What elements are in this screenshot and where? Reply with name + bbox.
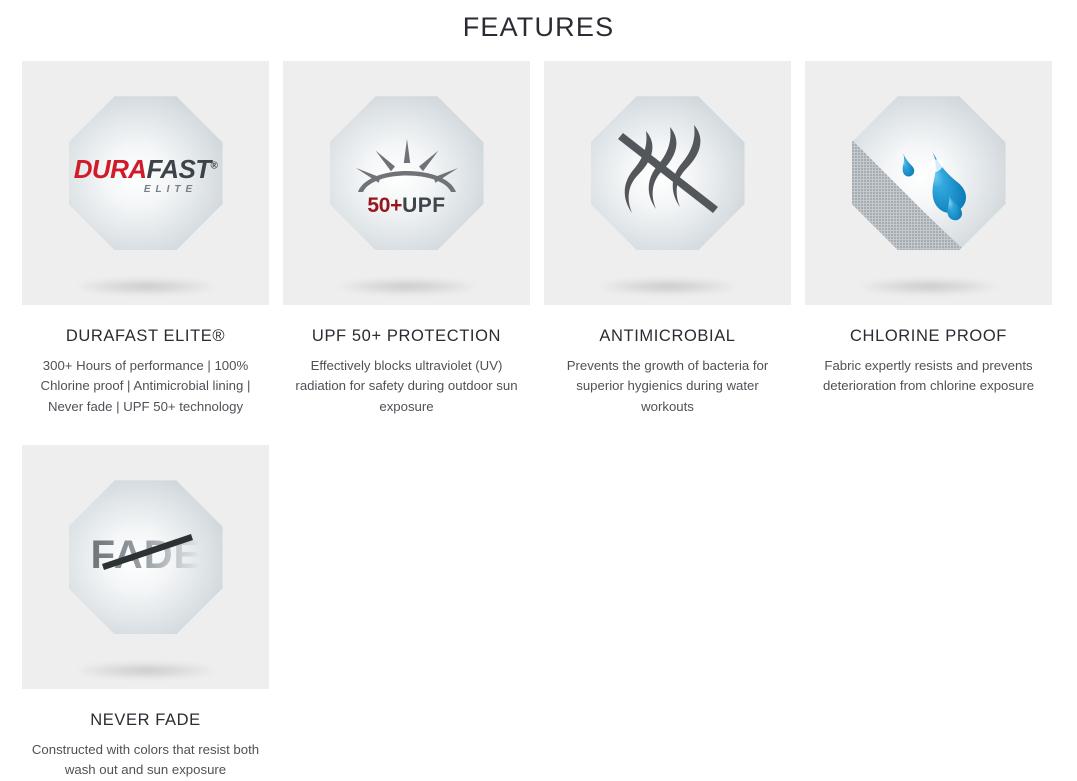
registered-mark-icon: ® xyxy=(211,160,218,171)
sun-upf-icon: 50+UPF xyxy=(330,96,484,250)
water-droplet-chlorine-icon xyxy=(852,96,1006,250)
logo-part-dura: DURA xyxy=(74,154,147,184)
feature-title: ANTIMICROBIAL xyxy=(544,327,791,347)
sun-rays-icon xyxy=(348,137,466,193)
feature-card-antimicrobial[interactable]: ANTIMICROBIAL Prevents the growth of bac… xyxy=(544,61,791,417)
octagon-drop-shadow xyxy=(339,279,475,294)
page-title: FEATURES xyxy=(0,0,1077,41)
octagon-wrap xyxy=(591,96,745,250)
row-separator xyxy=(22,417,1055,445)
icon-panel: DURAFAST® ELITE xyxy=(22,61,269,305)
feature-description: Constructed with colors that resist both… xyxy=(22,740,269,781)
upf-value: 50+ xyxy=(367,194,402,217)
chlorine-droplet-svg xyxy=(852,96,1006,250)
bacteria-waves-svg xyxy=(612,121,724,225)
logo-part-fast: FAST xyxy=(146,154,210,184)
icon-panel: FADE xyxy=(22,445,269,689)
octagon-drop-shadow xyxy=(861,279,997,294)
antimicrobial-bacteria-slash-icon xyxy=(591,96,745,250)
fade-word-svg: FADE xyxy=(69,480,223,634)
octagon-drop-shadow xyxy=(78,279,214,294)
feature-title: NEVER FADE xyxy=(22,711,269,731)
octagon-wrap xyxy=(852,96,1006,250)
icon-panel xyxy=(544,61,791,305)
feature-description: Fabric expertly resists and prevents det… xyxy=(805,356,1052,397)
octagon-wrap: FADE xyxy=(69,480,223,634)
feature-title: DURAFAST ELITE® xyxy=(22,327,269,347)
features-grid: DURAFAST® ELITE DURAFAST ELITE® 300+ Hou… xyxy=(0,61,1077,781)
octagon-wrap: 50+UPF xyxy=(330,96,484,250)
icon-panel: 50+UPF xyxy=(283,61,530,305)
octagon-drop-shadow xyxy=(78,663,214,678)
octagon-wrap: DURAFAST® ELITE xyxy=(69,96,223,250)
fade-strikethrough-icon: FADE xyxy=(69,480,223,634)
logo-subtitle-elite: ELITE xyxy=(74,185,218,195)
feature-description: Prevents the growth of bacteria for supe… xyxy=(544,356,791,417)
durafast-elite-logo-icon: DURAFAST® ELITE xyxy=(69,96,223,250)
feature-card-upf-protection[interactable]: 50+UPF UPF 50+ PROTECTION Effectively bl… xyxy=(283,61,530,417)
icon-panel xyxy=(805,61,1052,305)
feature-description: 300+ Hours of performance | 100% Chlorin… xyxy=(22,356,269,417)
feature-card-chlorine-proof[interactable]: CHLORINE PROOF Fabric expertly resists a… xyxy=(805,61,1052,417)
feature-card-never-fade[interactable]: FADE NEVER FADE Constructed with colors … xyxy=(22,445,269,781)
feature-description: Effectively blocks ultraviolet (UV) radi… xyxy=(283,356,530,417)
feature-title: CHLORINE PROOF xyxy=(805,327,1052,347)
feature-title: UPF 50+ PROTECTION xyxy=(283,327,530,347)
octagon-drop-shadow xyxy=(600,279,736,294)
upf-label: UPF xyxy=(402,194,446,217)
feature-card-durafast-elite[interactable]: DURAFAST® ELITE DURAFAST ELITE® 300+ Hou… xyxy=(22,61,269,417)
